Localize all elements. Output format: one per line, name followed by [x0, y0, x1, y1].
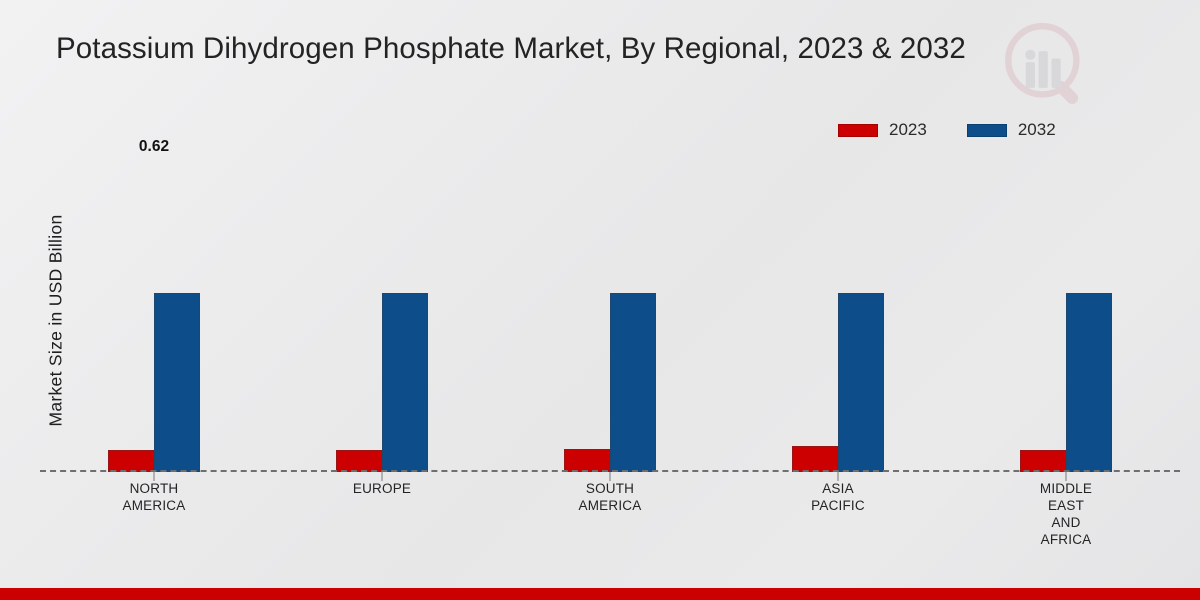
bar-2023-north-america[interactable]: 0.62 [108, 450, 154, 472]
bar-value-label: 0.62 [139, 138, 169, 156]
category-label-middle-east-and-africa: MIDDLEEASTANDAFRICA [952, 480, 1180, 548]
category-label-line: NORTH [40, 480, 268, 497]
bar-group-north-america: 0.62 [40, 160, 268, 472]
legend-label-2023: 2023 [889, 120, 927, 140]
category-label-line: MIDDLE [952, 480, 1180, 497]
category-label-line: SOUTH [496, 480, 724, 497]
category-label-asia-pacific: ASIAPACIFIC [724, 480, 952, 548]
category-label-line: ASIA [724, 480, 952, 497]
legend-item-2032[interactable]: 2032 [967, 120, 1056, 140]
x-axis-category-labels: NORTHAMERICA EUROPE SOUTHAMERICA ASIAPAC… [40, 480, 1180, 548]
category-label-line: PACIFIC [724, 497, 952, 514]
bar-group-asia-pacific [724, 160, 952, 472]
bar-2023-middle-east-and-africa[interactable] [1020, 450, 1066, 472]
chart-canvas: Potassium Dihydrogen Phosphate Market, B… [0, 0, 1200, 600]
bar-2032-asia-pacific[interactable] [838, 293, 884, 472]
category-label-europe: EUROPE [268, 480, 496, 548]
legend-label-2032: 2032 [1018, 120, 1056, 140]
bar-group-south-america [496, 160, 724, 472]
chart-legend: 2023 2032 [838, 120, 1056, 140]
bar-group-europe [268, 160, 496, 472]
bar-2032-north-america[interactable] [154, 293, 200, 472]
category-label-line: EAST [952, 497, 1180, 514]
category-label-line: EUROPE [268, 480, 496, 497]
bar-pair [564, 160, 656, 472]
footer-accent-bar [0, 588, 1200, 600]
bar-2032-europe[interactable] [382, 293, 428, 472]
bar-groups: 0.62 [40, 160, 1180, 472]
bar-pair [1020, 160, 1112, 472]
chart-title: Potassium Dihydrogen Phosphate Market, B… [56, 32, 1116, 66]
category-label-line: AND [952, 514, 1180, 531]
category-label-line: AFRICA [952, 531, 1180, 548]
legend-item-2023[interactable]: 2023 [838, 120, 927, 140]
legend-swatch-2023 [838, 124, 878, 137]
category-label-south-america: SOUTHAMERICA [496, 480, 724, 548]
bar-pair [792, 160, 884, 472]
bar-group-middle-east-and-africa [952, 160, 1180, 472]
bar-2023-europe[interactable] [336, 450, 382, 472]
category-label-line: AMERICA [496, 497, 724, 514]
bar-2023-south-america[interactable] [564, 449, 610, 472]
category-label-north-america: NORTHAMERICA [40, 480, 268, 548]
bar-pair: 0.62 [108, 160, 200, 472]
bar-2023-asia-pacific[interactable] [792, 446, 838, 472]
bar-2032-south-america[interactable] [610, 293, 656, 472]
bar-2032-middle-east-and-africa[interactable] [1066, 293, 1112, 472]
category-label-line: AMERICA [40, 497, 268, 514]
plot-area: 0.62 [40, 160, 1180, 472]
x-axis-baseline [40, 470, 1180, 472]
bar-pair [336, 160, 428, 472]
legend-swatch-2032 [967, 124, 1007, 137]
